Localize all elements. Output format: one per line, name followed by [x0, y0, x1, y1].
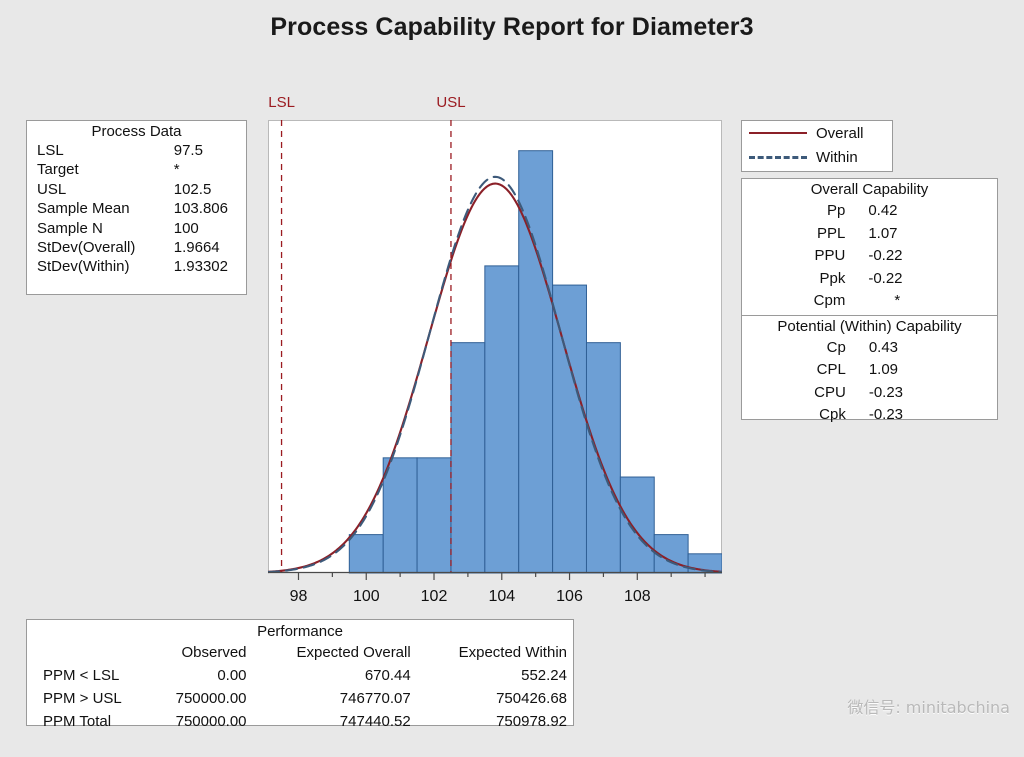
capability-label: Cpm — [813, 290, 868, 313]
process-data-heading: Process Data — [27, 121, 246, 141]
histogram-bar — [586, 343, 620, 573]
performance-observed: 0.00 — [147, 664, 253, 687]
performance-heading: Performance — [27, 620, 573, 641]
capability-label: PPU — [813, 245, 868, 268]
table-row: StDev(Within)1.93302 — [27, 257, 246, 276]
performance-expected-overall: 670.44 — [253, 664, 417, 687]
table-row: CPU-0.23 — [813, 382, 926, 405]
overall-capability-table: Pp0.42PPL1.07PPU-0.22Ppk-0.22Cpm* — [813, 200, 927, 313]
performance-expected-within: 552.24 — [417, 664, 573, 687]
legend-label-overall: Overall — [816, 125, 864, 142]
performance-row-label: PPM < LSL — [27, 664, 147, 687]
legend-line-dashed-icon — [749, 151, 807, 163]
process-data-value: 1.9664 — [168, 238, 246, 257]
table-header-row: Observed Expected Overall Expected Withi… — [27, 641, 573, 664]
performance-observed: 750000.00 — [147, 687, 253, 710]
table-row: USL102.5 — [27, 180, 246, 199]
x-axis-tick-label: 100 — [353, 588, 380, 606]
histogram-bar — [417, 458, 451, 573]
capability-value: 0.42 — [867, 200, 926, 223]
process-data-label: Sample N — [27, 219, 168, 238]
histogram-bar — [519, 151, 553, 573]
capability-value: 1.07 — [867, 223, 926, 246]
table-row: Target* — [27, 160, 246, 179]
table-row: Pp0.42 — [813, 200, 927, 223]
process-data-value: 1.93302 — [168, 257, 246, 276]
process-data-value: * — [168, 160, 246, 179]
curve-legend: Overall Within — [741, 120, 893, 172]
column-header-expected-overall: Expected Overall — [253, 641, 417, 664]
x-axis-tick-label: 106 — [556, 588, 583, 606]
histogram-bar — [349, 535, 383, 573]
x-axis-tick-label: 102 — [421, 588, 448, 606]
table-row: Sample Mean103.806 — [27, 199, 246, 218]
histogram-bar — [485, 266, 519, 573]
process-data-value: 100 — [168, 219, 246, 238]
performance-expected-overall: 746770.07 — [253, 687, 417, 710]
capability-label: CPL — [813, 359, 868, 382]
performance-row-label: PPM Total — [27, 710, 147, 733]
performance-observed: 750000.00 — [147, 710, 253, 733]
table-row: StDev(Overall)1.9664 — [27, 238, 246, 257]
performance-corner-cell — [27, 641, 147, 664]
capability-label: CPU — [813, 382, 868, 405]
performance-row-label: PPM > USL — [27, 687, 147, 710]
capability-panel: Overall Capability Pp0.42PPL1.07PPU-0.22… — [741, 178, 998, 420]
process-data-value: 103.806 — [168, 199, 246, 218]
capability-label: Pp — [813, 200, 868, 223]
performance-expected-overall: 747440.52 — [253, 710, 417, 733]
legend-item-within: Within — [742, 145, 892, 169]
capability-label: Ppk — [813, 268, 868, 291]
capability-label: Cp — [813, 337, 868, 360]
process-capability-report: Process Capability Report for Diameter3 … — [0, 0, 1024, 757]
process-data-label: LSL — [27, 141, 168, 160]
table-row: Cpm* — [813, 290, 927, 313]
capability-label: Cpk — [813, 404, 868, 427]
column-header-observed: Observed — [147, 641, 253, 664]
process-data-value: 102.5 — [168, 180, 246, 199]
table-row: PPU-0.22 — [813, 245, 927, 268]
capability-value: -0.22 — [867, 245, 926, 268]
overall-capability-heading: Overall Capability — [742, 179, 997, 200]
capability-value: 1.09 — [868, 359, 926, 382]
process-data-label: Target — [27, 160, 168, 179]
process-data-panel: Process Data LSL97.5Target*USL102.5Sampl… — [26, 120, 247, 295]
performance-panel: Performance Observed Expected Overall Ex… — [26, 619, 574, 726]
table-row: Cp0.43 — [813, 337, 926, 360]
table-row: Ppk-0.22 — [813, 268, 927, 291]
legend-label-within: Within — [816, 149, 858, 166]
within-capability-heading: Potential (Within) Capability — [742, 316, 997, 337]
x-axis-tick-label: 98 — [290, 588, 308, 606]
watermark: 微信号: minitabchina — [847, 694, 1010, 718]
table-row: Sample N100 — [27, 219, 246, 238]
x-axis-tick-label: 104 — [488, 588, 515, 606]
process-data-label: Sample Mean — [27, 199, 168, 218]
x-axis-tick-labels: 98100102104106108 — [268, 578, 722, 606]
table-row: PPM > USL750000.00746770.07750426.68 — [27, 687, 573, 710]
histogram-bars — [349, 151, 722, 573]
performance-table: Observed Expected Overall Expected Withi… — [27, 641, 573, 733]
capability-value: -0.23 — [868, 382, 926, 405]
table-row: Cpk-0.23 — [813, 404, 926, 427]
x-axis-tick-label: 108 — [624, 588, 651, 606]
capability-value: 0.43 — [868, 337, 926, 360]
process-data-label: StDev(Overall) — [27, 238, 168, 257]
capability-value: -0.22 — [867, 268, 926, 291]
within-capability-table: Cp0.43CPL1.09CPU-0.23Cpk-0.23 — [813, 337, 926, 427]
column-header-expected-within: Expected Within — [417, 641, 573, 664]
legend-item-overall: Overall — [742, 121, 892, 145]
table-row: PPM Total750000.00747440.52750978.92 — [27, 710, 573, 733]
process-data-table: LSL97.5Target*USL102.5Sample Mean103.806… — [27, 141, 246, 277]
plot-svg — [268, 120, 722, 583]
performance-expected-within: 750426.68 — [417, 687, 573, 710]
table-row: LSL97.5 — [27, 141, 246, 160]
capability-value: * — [867, 290, 926, 313]
table-row: CPL1.09 — [813, 359, 926, 382]
histogram-bar — [451, 343, 485, 573]
process-data-value: 97.5 — [168, 141, 246, 160]
table-row: PPL1.07 — [813, 223, 927, 246]
table-row: PPM < LSL0.00670.44552.24 — [27, 664, 573, 687]
legend-line-solid-icon — [749, 127, 807, 139]
histogram-bar — [620, 477, 654, 573]
capability-value: -0.23 — [868, 404, 926, 427]
process-data-label: StDev(Within) — [27, 257, 168, 276]
spec-limit-label-lsl: LSL — [268, 94, 295, 111]
histogram-bar — [383, 458, 417, 573]
process-data-label: USL — [27, 180, 168, 199]
performance-expected-within: 750978.92 — [417, 710, 573, 733]
histogram-plot: LSLUSL — [268, 120, 722, 573]
histogram-bar — [553, 285, 587, 573]
spec-limit-label-usl: USL — [436, 94, 465, 111]
page-title: Process Capability Report for Diameter3 — [0, 13, 1024, 42]
capability-label: PPL — [813, 223, 868, 246]
